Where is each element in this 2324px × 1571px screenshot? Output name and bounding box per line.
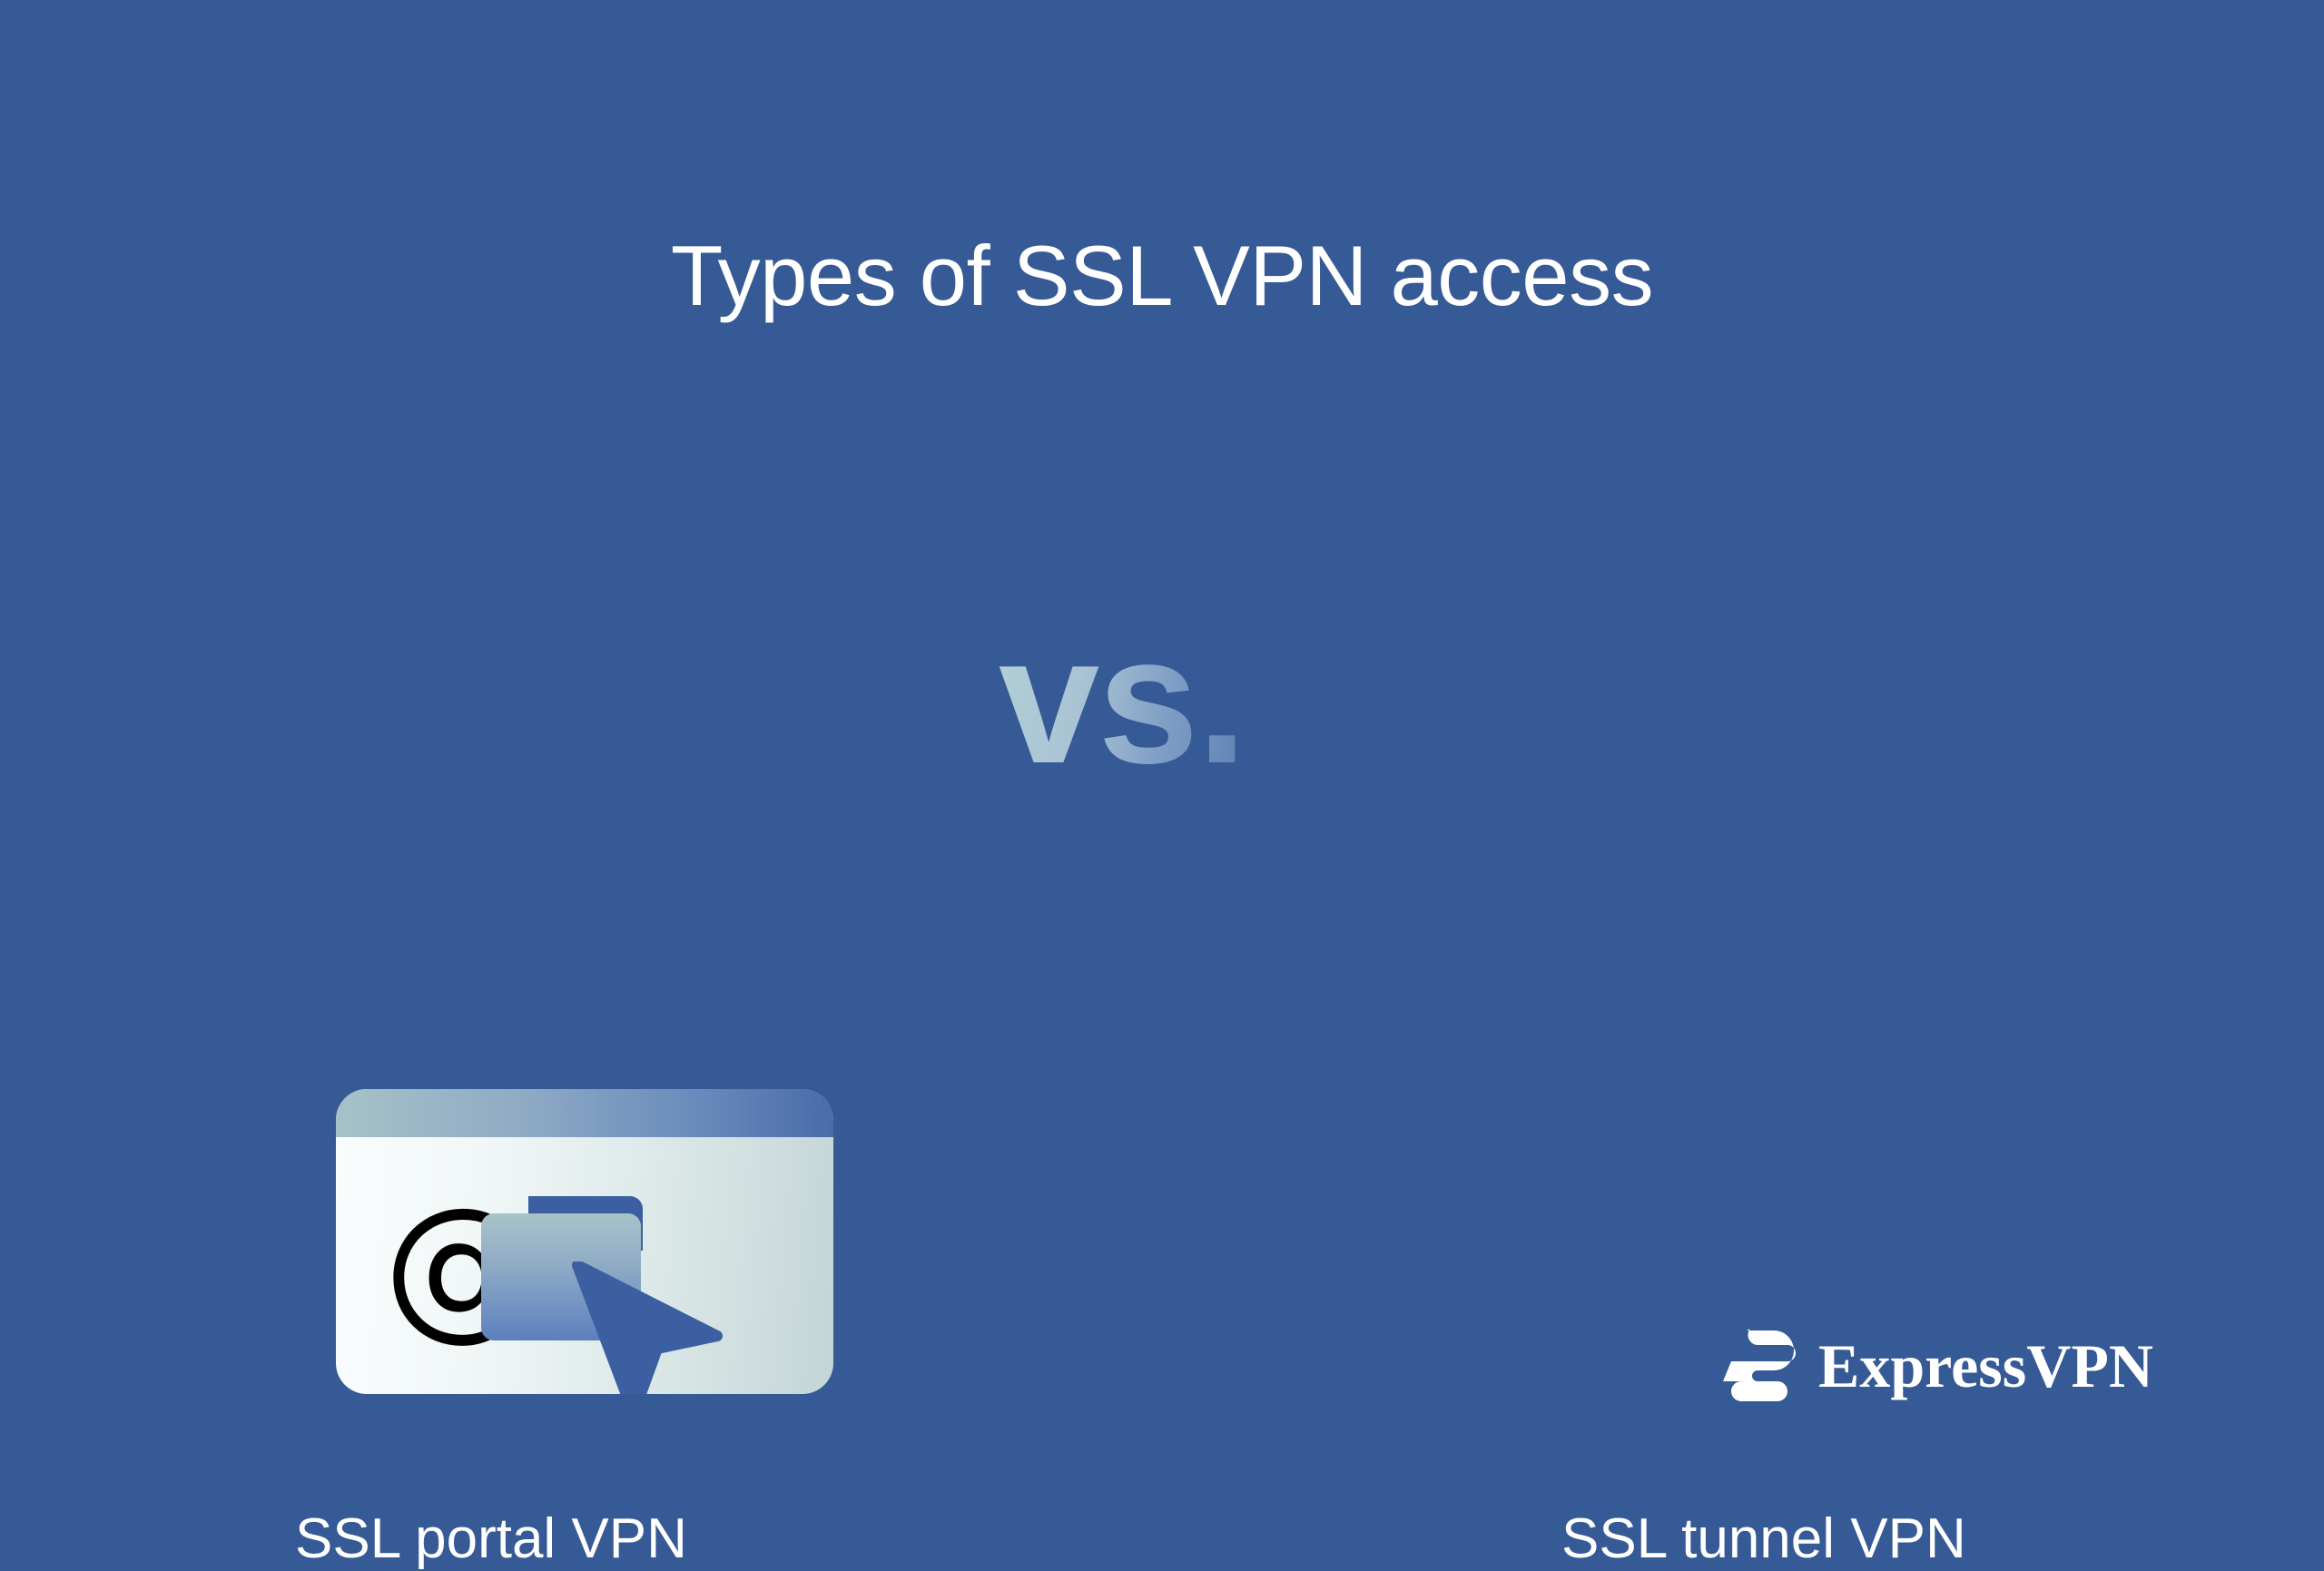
cursor-arrow-icon [570, 1262, 724, 1394]
expressvpn-logo: ExpressVPN [1718, 1327, 2153, 1405]
portal-card-illustration: @ [336, 1089, 833, 1394]
infographic-canvas: Types of SSL VPN access @ [0, 0, 2324, 1524]
caption-right: SSL tunnel VPN [1416, 1507, 2161, 1571]
caption-left: SSL portal VPN [163, 1507, 871, 1571]
expressvpn-wordmark: ExpressVPN [1818, 1335, 2153, 1397]
expressvpn-e-logo-icon [1718, 1327, 1797, 1405]
versus-separator: vs. [999, 610, 1246, 791]
browser-titlebar [336, 1089, 833, 1137]
page-title: Types of SSL VPN access [0, 231, 2324, 321]
